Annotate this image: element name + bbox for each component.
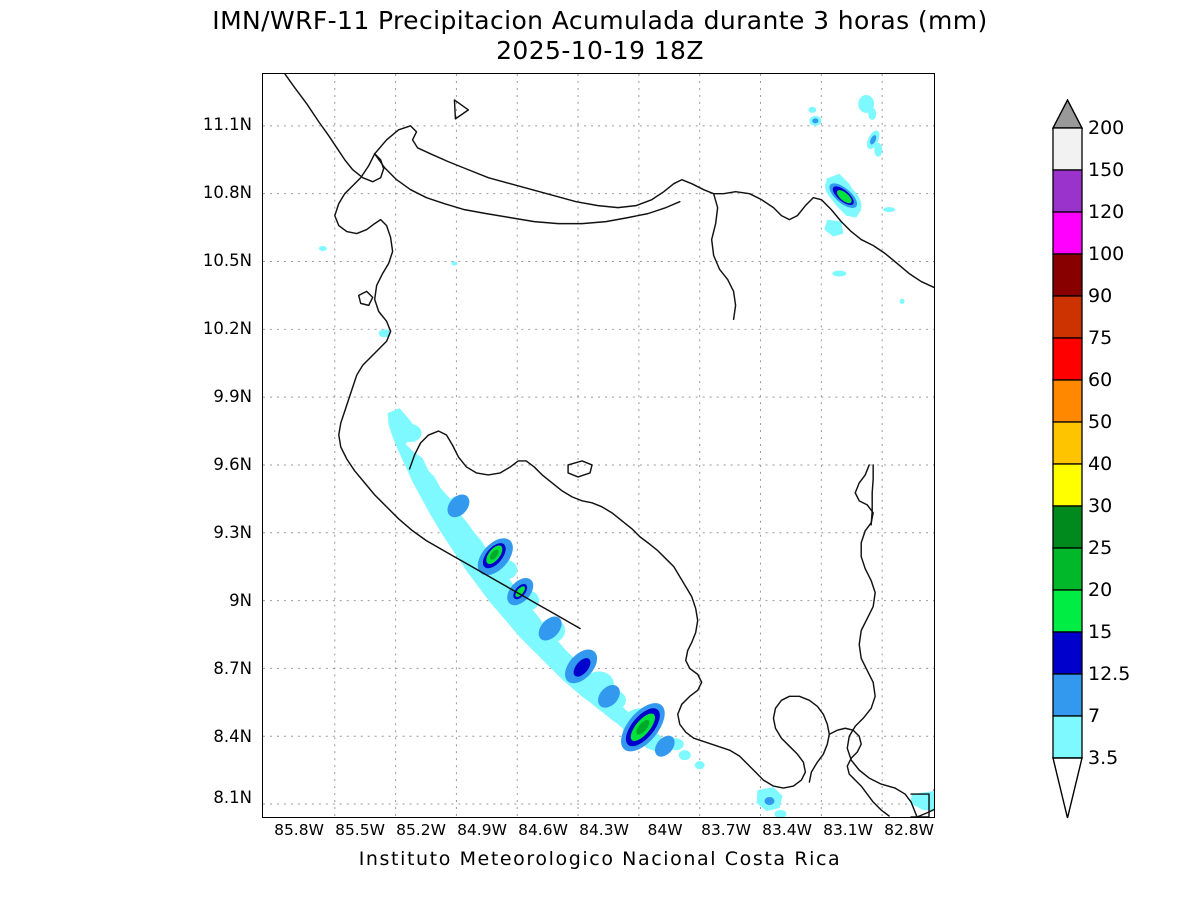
xtick-label: 84.6W (508, 822, 578, 838)
colorbar-label: 3.5 (1088, 749, 1118, 768)
xtick-label: 82.8W (874, 822, 944, 838)
chart-title: IMN/WRF-11 Precipitacion Acumulada duran… (0, 6, 1200, 66)
xtick-label: 83.7W (691, 822, 761, 838)
ytick-label: 9.9N (198, 389, 252, 405)
colorbar-label: 120 (1088, 203, 1124, 222)
colorbar-band-90-100 (1053, 254, 1082, 296)
colorbar-band-120-150 (1053, 170, 1082, 212)
colorbar-label: 40 (1088, 455, 1112, 474)
colorbar-label: 25 (1088, 539, 1112, 558)
ytick-label: 11.1N (198, 117, 252, 133)
colorbar-label: 7 (1088, 707, 1100, 726)
colorbar-band-20-25 (1053, 548, 1082, 590)
ytick-label: 10.2N (198, 321, 252, 337)
lake-arenal (568, 461, 592, 477)
colorbar-band-7-12p5 (1053, 674, 1082, 716)
colorbar-band-12p5-15 (1053, 632, 1082, 674)
xtick-label: 84.3W (569, 822, 639, 838)
xtick-label: 85.5W (325, 822, 395, 838)
ytick-label: 10.5N (198, 253, 252, 269)
coast-notch-a (359, 291, 373, 305)
map-plot-area[interactable] (262, 73, 935, 818)
colorbar-band-150-200 (1053, 128, 1082, 170)
colorbar-label: 50 (1088, 413, 1112, 432)
colorbar[interactable] (1052, 99, 1083, 820)
colorbar-svg (1052, 99, 1083, 820)
colorbar-band-30-40 (1053, 464, 1082, 506)
colorbar-label: 200 (1088, 119, 1124, 138)
xtick-label: 85.2W (386, 822, 456, 838)
colorbar-label: 90 (1088, 287, 1112, 306)
colorbar-underflow-arrow (1053, 758, 1082, 818)
colorbar-band-75-90 (1053, 296, 1082, 338)
map-svg (263, 74, 934, 817)
precipitation-field (319, 95, 934, 817)
title-line-1: IMN/WRF-11 Precipitacion Acumulada duran… (0, 6, 1200, 36)
xtick-label: 84W (630, 822, 700, 838)
colorbar-label: 20 (1088, 581, 1112, 600)
ytick-label: 10.8N (198, 185, 252, 201)
colorbar-band-60-75 (1053, 338, 1082, 380)
colorbar-band-3p5-7 (1053, 716, 1082, 758)
colorbar-band-15-20 (1053, 590, 1082, 632)
colorbar-label: 12.5 (1088, 665, 1130, 684)
colorbar-label: 15 (1088, 623, 1112, 642)
colorbar-label: 30 (1088, 497, 1112, 516)
xtick-label: 83.4W (752, 822, 822, 838)
ytick-label: 8.4N (198, 729, 252, 745)
colorbar-band-100-120 (1053, 212, 1082, 254)
xtick-label: 85.8W (264, 822, 334, 838)
ytick-label: 9.3N (198, 525, 252, 541)
colorbar-label: 150 (1088, 161, 1124, 180)
colorbar-overflow-arrow (1053, 100, 1082, 128)
colorbar-label: 100 (1088, 245, 1124, 264)
coast-caribbean (712, 194, 736, 320)
figure-footer: Instituto Meteorologico Nacional Costa R… (0, 848, 1200, 870)
ytick-label: 9N (198, 593, 252, 609)
golfo-dulce (829, 728, 889, 816)
ytick-label: 9.6N (198, 457, 252, 473)
precip-scattered-cells (319, 246, 705, 769)
precip-south-cells (757, 781, 934, 817)
ytick-label: 8.1N (198, 790, 252, 806)
colorbar-band-50-60 (1053, 380, 1082, 422)
coast-caribbean-south (847, 465, 895, 788)
xtick-label: 83.1W (813, 822, 883, 838)
xtick-label: 84.9W (447, 822, 517, 838)
colorbar-label: 60 (1088, 371, 1112, 390)
colorbar-band-40-50 (1053, 422, 1082, 464)
ytick-label: 8.7N (198, 661, 252, 677)
colorbar-label: 75 (1088, 329, 1112, 348)
osa-peninsula (694, 696, 830, 788)
title-line-2: 2025-10-19 18Z (0, 36, 1200, 66)
weather-map-figure: IMN/WRF-11 Precipitacion Acumulada duran… (0, 0, 1200, 900)
colorbar-band-25-30 (1053, 506, 1082, 548)
